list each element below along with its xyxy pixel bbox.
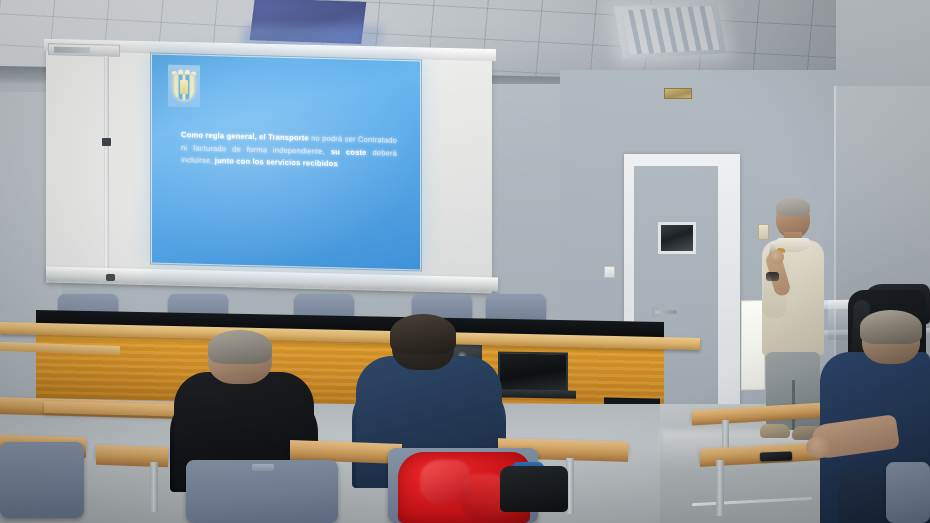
attendee-right-hand — [806, 436, 832, 458]
attendee-right-hair — [860, 310, 922, 344]
classroom-chair[interactable] — [0, 442, 84, 518]
bottom-rail-knob[interactable] — [106, 274, 115, 281]
laptop-base[interactable] — [492, 389, 576, 398]
slide-text-bold-3: junto con los servicios recibidos — [215, 156, 338, 168]
smartphone-on-desk[interactable] — [760, 451, 792, 461]
black-bag[interactable] — [500, 466, 568, 512]
screen-pull-pole[interactable] — [104, 56, 109, 274]
presenter-hair — [776, 198, 810, 216]
wall-plaque — [664, 88, 692, 99]
shield-charge-icon — [180, 80, 188, 94]
attendee-left-hair — [208, 330, 272, 364]
thermostat-plate[interactable] — [758, 224, 769, 240]
door-vision-panel — [658, 222, 696, 254]
slide-text-plain-1: no podrá — [311, 134, 342, 144]
laptop-computer[interactable] — [498, 352, 568, 393]
bracket-label — [54, 47, 90, 54]
wrist-watch — [766, 272, 779, 281]
pole-clamp-knob[interactable] — [102, 138, 111, 146]
slide-body-text: Como regla general, el Transporte no pod… — [181, 129, 397, 172]
lever-door-handle-icon[interactable] — [655, 310, 677, 314]
presenter-shoe-left — [760, 424, 790, 438]
chair-back-tab — [252, 464, 274, 471]
screenshot-root: Como regla general, el Transporte no pod… — [0, 0, 930, 523]
presenter-hand — [770, 250, 784, 264]
classroom-chair[interactable] — [886, 462, 930, 523]
slide-text-bold-2: su coste — [331, 147, 367, 157]
attendee-middle-hair — [390, 314, 456, 354]
desk-leg — [716, 460, 724, 516]
light-switch-plate[interactable] — [604, 266, 615, 278]
desk-leg — [150, 462, 158, 512]
slide-text-plain-3: independiente, — [273, 145, 325, 155]
slide-text-bold-1: Como regla general, el Transporte — [181, 130, 309, 142]
